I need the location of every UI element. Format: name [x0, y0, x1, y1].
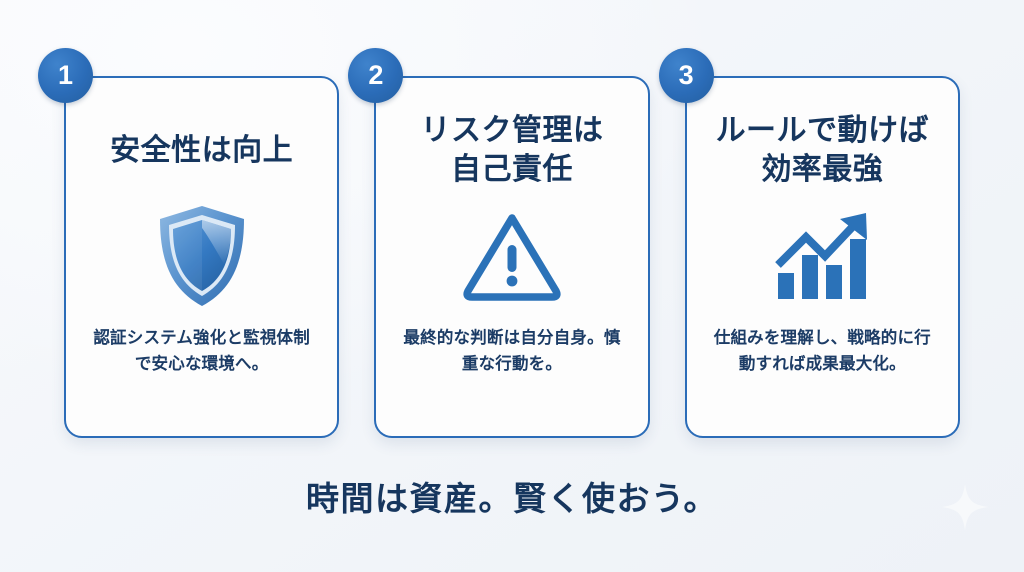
card-3[interactable]: 3 ルールで動けば 効率最強 仕組みを理解し、戦略的に行動すれば成果最大: [685, 76, 960, 438]
card-1[interactable]: 1 安全性は向上: [64, 76, 339, 438]
card-1-number-badge: 1: [38, 48, 93, 103]
card-1-body: 認証システム強化と監視体制で安心な環境へ。: [86, 326, 318, 377]
card-3-title-line-2: 効率最強: [761, 150, 883, 189]
card-3-number-badge: 3: [659, 48, 714, 103]
card-2-title-line-1: リスク管理は: [420, 111, 603, 150]
card-3-title-line-1: ルールで動けば: [716, 111, 930, 150]
slide-caption: 時間は資産。賢く使おう。: [0, 472, 1024, 520]
card-2-title-line-2: 自己責任: [451, 150, 573, 189]
card-1-title-line-1: 安全性は向上: [110, 131, 293, 170]
cards-row: 1 安全性は向上: [64, 76, 960, 438]
card-2-title: リスク管理は 自己責任: [394, 104, 629, 196]
card-2-number-badge: 2: [348, 48, 403, 103]
card-3-title: ルールで動けば 効率最強: [705, 104, 940, 196]
card-1-title: 安全性は向上: [84, 104, 319, 196]
slide-canvas: 1 安全性は向上: [0, 0, 1024, 572]
card-2[interactable]: 2 リスク管理は 自己責任 最終的な判断は自分自身。慎重な行動を。: [374, 76, 649, 438]
bar-chart-growth-icon: [770, 200, 874, 312]
warning-triangle-icon: [460, 200, 564, 312]
card-3-body: 仕組みを理解し、戦略的に行動すれば成果最大化。: [706, 326, 938, 377]
card-2-body: 最終的な判断は自分自身。慎重な行動を。: [396, 326, 628, 377]
shield-icon: [156, 200, 248, 312]
